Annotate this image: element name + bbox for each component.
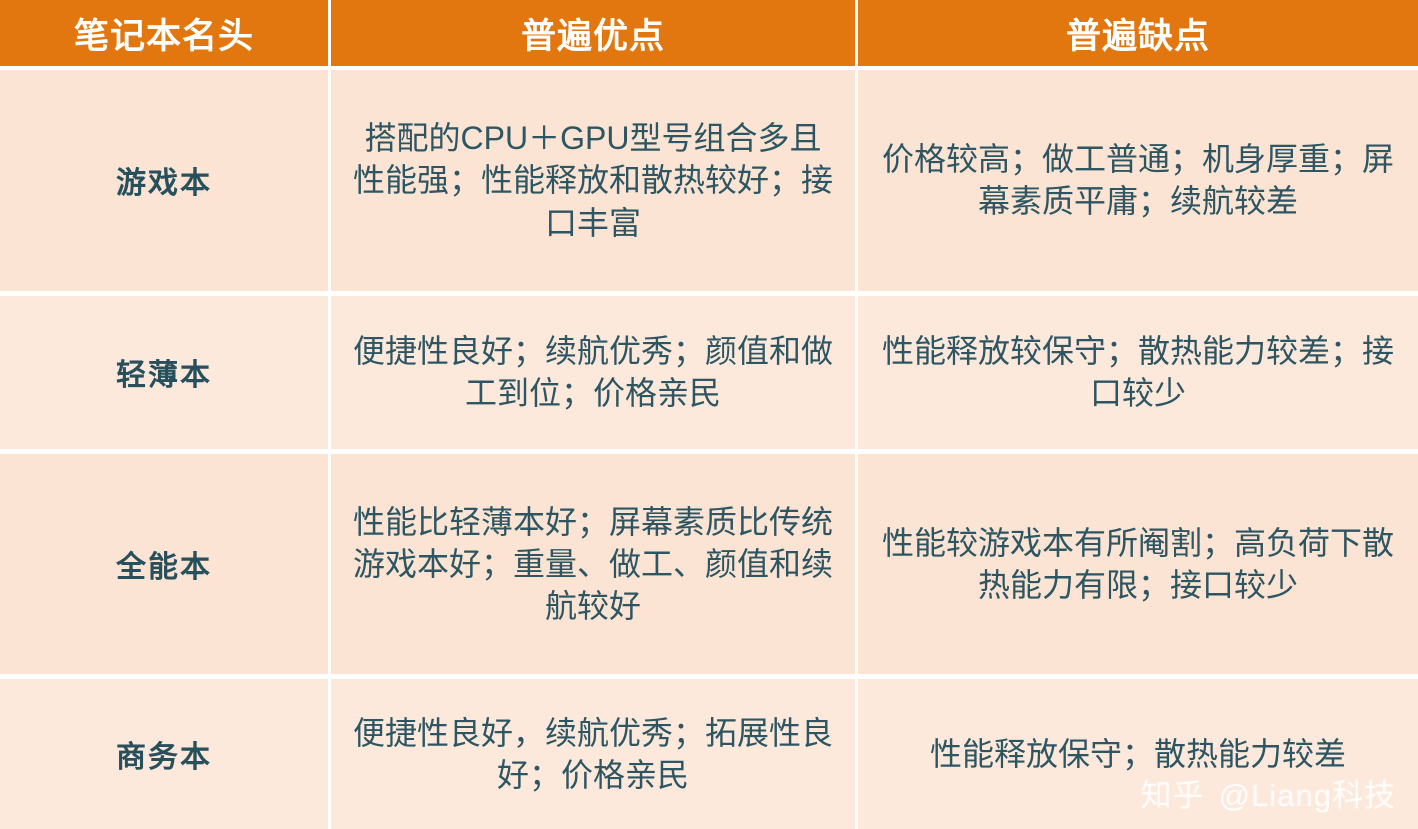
table-body: 游戏本 搭配的CPU＋GPU型号组合多且性能强；性能释放和散热较好；接口丰富 价… <box>0 70 1418 829</box>
comparison-table-page: 笔记本名头 普遍优点 普遍缺点 游戏本 搭配的CPU＋GPU型号组合多且性能强；… <box>0 0 1418 829</box>
cell-laptop-name: 全能本 <box>0 454 331 680</box>
cell-laptop-name: 游戏本 <box>0 70 331 296</box>
cell-cons: 性能释放较保守；散热能力较差；接口较少 <box>858 296 1418 454</box>
table-row: 轻薄本 便捷性良好；续航优秀；颜值和做工到位；价格亲民 性能释放较保守；散热能力… <box>0 296 1418 454</box>
laptop-comparison-table: 笔记本名头 普遍优点 普遍缺点 游戏本 搭配的CPU＋GPU型号组合多且性能强；… <box>0 0 1418 829</box>
table-row: 全能本 性能比轻薄本好；屏幕素质比传统游戏本好；重量、做工、颜值和续航较好 性能… <box>0 454 1418 680</box>
cell-pros: 便捷性良好，续航优秀；拓展性良好；价格亲民 <box>331 679 858 829</box>
cell-pros: 搭配的CPU＋GPU型号组合多且性能强；性能释放和散热较好；接口丰富 <box>331 70 858 296</box>
table-header: 笔记本名头 普遍优点 普遍缺点 <box>0 0 1418 70</box>
column-header-pros: 普遍优点 <box>331 0 858 70</box>
table-row: 商务本 便捷性良好，续航优秀；拓展性良好；价格亲民 性能释放保守；散热能力较差 <box>0 679 1418 829</box>
cell-laptop-name: 商务本 <box>0 679 331 829</box>
cell-pros: 性能比轻薄本好；屏幕素质比传统游戏本好；重量、做工、颜值和续航较好 <box>331 454 858 680</box>
cell-cons: 价格较高；做工普通；机身厚重；屏幕素质平庸；续航较差 <box>858 70 1418 296</box>
table-row: 游戏本 搭配的CPU＋GPU型号组合多且性能强；性能释放和散热较好；接口丰富 价… <box>0 70 1418 296</box>
cell-cons: 性能释放保守；散热能力较差 <box>858 679 1418 829</box>
column-header-cons: 普遍缺点 <box>858 0 1418 70</box>
cell-pros: 便捷性良好；续航优秀；颜值和做工到位；价格亲民 <box>331 296 858 454</box>
table-header-row: 笔记本名头 普遍优点 普遍缺点 <box>0 0 1418 70</box>
column-header-name: 笔记本名头 <box>0 0 331 70</box>
cell-cons: 性能较游戏本有所阉割；高负荷下散热能力有限；接口较少 <box>858 454 1418 680</box>
cell-laptop-name: 轻薄本 <box>0 296 331 454</box>
